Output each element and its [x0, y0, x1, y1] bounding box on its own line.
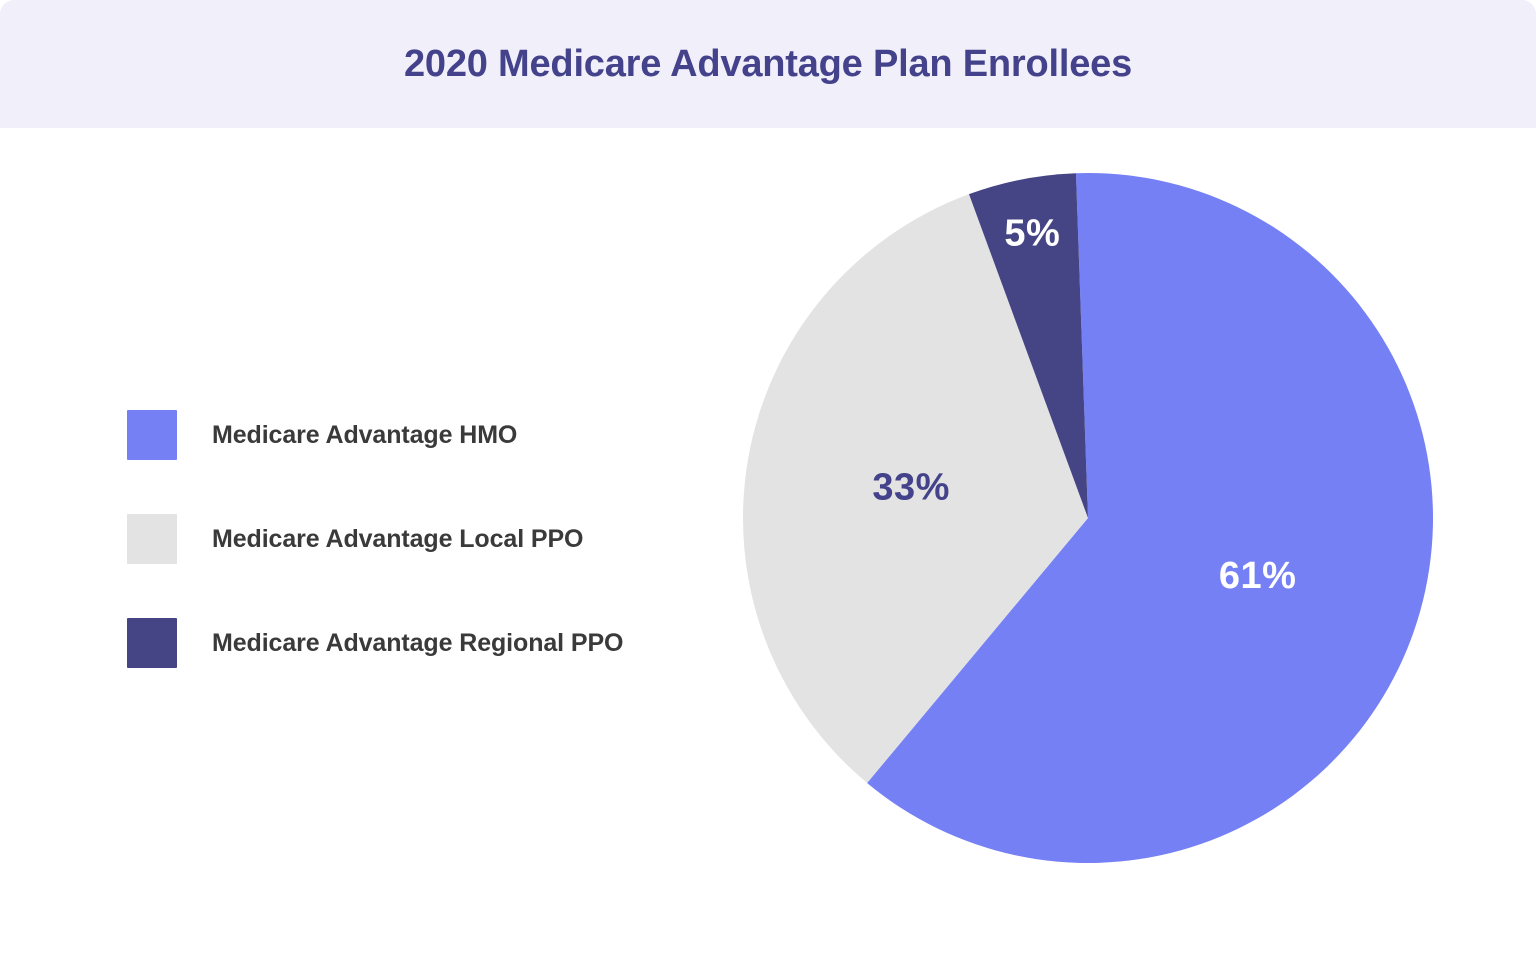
chart-plot-area: Medicare Advantage HMO Medicare Advantag…: [0, 128, 1536, 969]
legend-swatch-icon-regional-ppo: [127, 618, 177, 668]
pie-slice-label: 5%: [1004, 213, 1060, 255]
chart-header-band: 2020 Medicare Advantage Plan Enrollees: [0, 0, 1536, 128]
pie-slice-label: 61%: [1219, 555, 1297, 597]
pie-chart: 61%33%5%: [743, 173, 1433, 863]
legend-label-local-ppo: Medicare Advantage Local PPO: [212, 525, 583, 554]
legend-item-medicare-advantage-local-ppo[interactable]: Medicare Advantage Local PPO: [127, 487, 727, 591]
pie-slice-label: 33%: [872, 466, 950, 508]
chart-legend: Medicare Advantage HMO Medicare Advantag…: [127, 383, 727, 695]
legend-swatch-icon-hmo: [127, 410, 177, 460]
chart-title: 2020 Medicare Advantage Plan Enrollees: [404, 45, 1132, 83]
pie-chart-svg: 61%33%5%: [743, 173, 1433, 863]
legend-label-regional-ppo: Medicare Advantage Regional PPO: [212, 629, 623, 658]
legend-swatch-icon-local-ppo: [127, 514, 177, 564]
chart-card: 2020 Medicare Advantage Plan Enrollees M…: [0, 0, 1536, 969]
legend-item-medicare-advantage-regional-ppo[interactable]: Medicare Advantage Regional PPO: [127, 591, 727, 695]
legend-label-hmo: Medicare Advantage HMO: [212, 421, 517, 450]
legend-item-medicare-advantage-hmo[interactable]: Medicare Advantage HMO: [127, 383, 727, 487]
